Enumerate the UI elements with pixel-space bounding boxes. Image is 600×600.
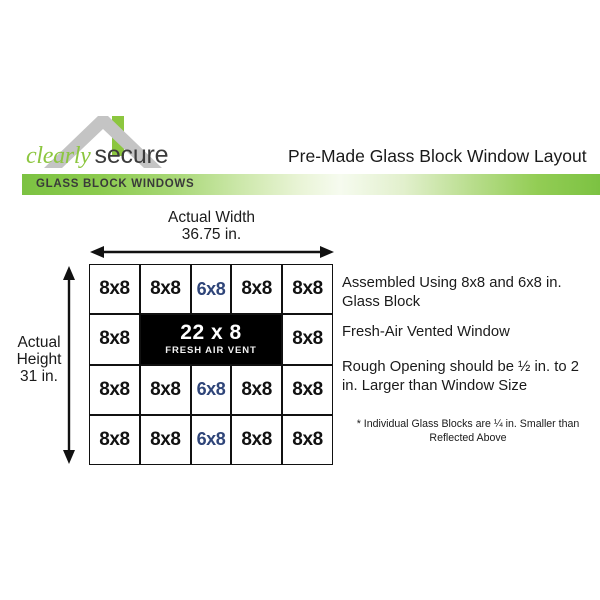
block-cell-8x8: 8x8	[90, 416, 139, 464]
block-cell-8x8: 8x8	[141, 366, 190, 414]
block-cell-8x8: 8x8	[232, 265, 281, 313]
block-cell-8x8: 8x8	[283, 416, 332, 464]
vent-subtitle-label: FRESH AIR VENT	[165, 345, 256, 356]
block-cell-8x8: 8x8	[283, 366, 332, 414]
brand-word-secure: secure	[95, 141, 169, 169]
block-cell-8x8: 8x8	[90, 315, 139, 363]
brand-word-clearly: clearly	[26, 143, 91, 169]
brand-logo: clearlysecure	[24, 110, 189, 182]
note-assembled-using: Assembled Using 8x8 and 6x8 in. Glass Bl…	[342, 274, 594, 312]
fresh-air-vent-cell: 22 x 8 FRESH AIR VENT	[141, 315, 281, 363]
actual-width-value: 36.75 in.	[90, 226, 333, 243]
block-cell-8x8: 8x8	[90, 366, 139, 414]
page-title: Pre-Made Glass Block Window Layout	[288, 146, 587, 167]
page-header: clearlysecure GLASS BLOCK WINDOWS Pre-Ma…	[0, 110, 600, 200]
block-cell-8x8: 8x8	[232, 416, 281, 464]
block-cell-8x8: 8x8	[90, 265, 139, 313]
height-dimension-arrow	[62, 266, 76, 464]
block-cell-6x8: 6x8	[192, 265, 230, 313]
brand-tagline-label: GLASS BLOCK WINDOWS	[36, 178, 194, 190]
block-cell-8x8: 8x8	[283, 315, 332, 363]
vent-size-label: 22 x 8	[180, 322, 241, 344]
note-footnote: * Individual Glass Blocks are ¼ in. Smal…	[342, 418, 594, 445]
brand-wordmark: clearlysecure	[26, 141, 189, 169]
note-rough-opening: Rough Opening should be ½ in. to 2 in. L…	[342, 358, 594, 396]
width-dimension-arrow	[90, 245, 334, 259]
block-cell-6x8: 6x8	[192, 416, 230, 464]
brand-tagline-bar: GLASS BLOCK WINDOWS	[22, 174, 600, 195]
block-cell-8x8: 8x8	[283, 265, 332, 313]
note-vented-window: Fresh-Air Vented Window	[342, 323, 594, 342]
actual-width-caption: Actual Width	[90, 209, 333, 226]
actual-width-label: Actual Width 36.75 in.	[90, 209, 333, 243]
block-cell-8x8: 8x8	[141, 416, 190, 464]
block-cell-8x8: 8x8	[232, 366, 281, 414]
block-cell-8x8: 8x8	[141, 265, 190, 313]
block-cell-6x8: 6x8	[192, 366, 230, 414]
glass-block-layout-grid: 8x8 8x8 6x8 8x8 8x8 8x8 22 x 8 FRESH AIR…	[89, 264, 333, 465]
